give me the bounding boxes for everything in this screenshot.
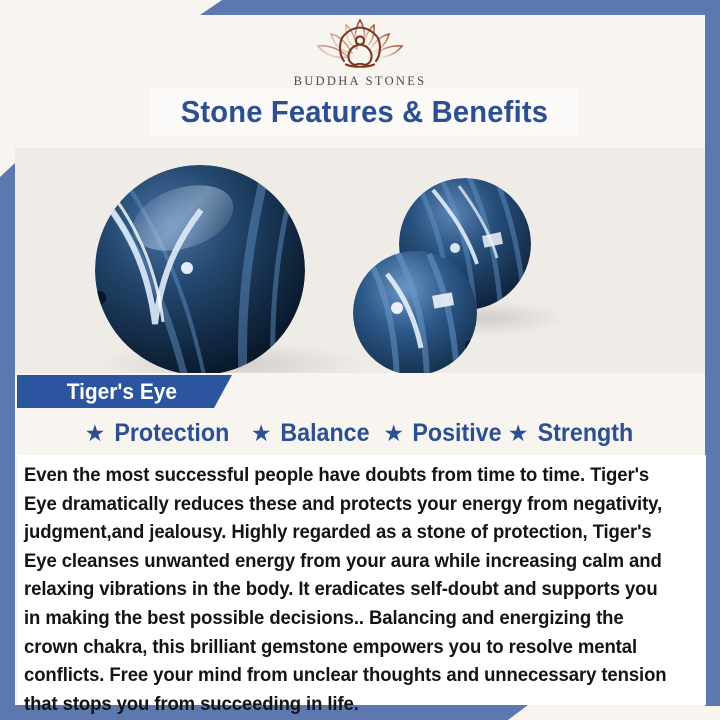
benefit-label-strength: Strength	[536, 419, 633, 448]
star-icon: ★	[83, 422, 108, 445]
stone-photo	[15, 148, 705, 373]
benefit-label-positive: Positive	[411, 419, 502, 448]
description-text: Even the most successful people have dou…	[24, 461, 668, 718]
star-icon: ★	[506, 422, 531, 445]
frame-band-top	[200, 0, 720, 15]
frame-band-right	[705, 0, 720, 706]
benefit-label-balance: Balance	[279, 419, 370, 448]
stone-name-label: Tiger's Eye	[21, 379, 177, 405]
stone-name-ribbon: Tiger's Eye	[17, 375, 232, 408]
poster: BUDDHA STONES Stone Features & Benefits	[0, 0, 720, 720]
lotus-meditation-icon	[300, 14, 420, 72]
frame-band-left	[0, 163, 15, 720]
star-icon: ★	[381, 422, 406, 445]
star-icon: ★	[249, 422, 274, 445]
benefits-row: ★ Protection ★ Balance ★ Positive ★ Stre…	[15, 416, 705, 450]
blue-tigers-eye-spheres-image	[15, 148, 705, 373]
benefit-label-protection: Protection	[114, 419, 231, 448]
brand-logo: BUDDHA STONES	[0, 14, 720, 89]
brand-name: BUDDHA STONES	[0, 74, 720, 89]
page-title-text: Stone Features & Benefits	[180, 94, 547, 130]
page-title: Stone Features & Benefits	[150, 88, 578, 136]
description-panel: Even the most successful people have dou…	[18, 455, 706, 705]
